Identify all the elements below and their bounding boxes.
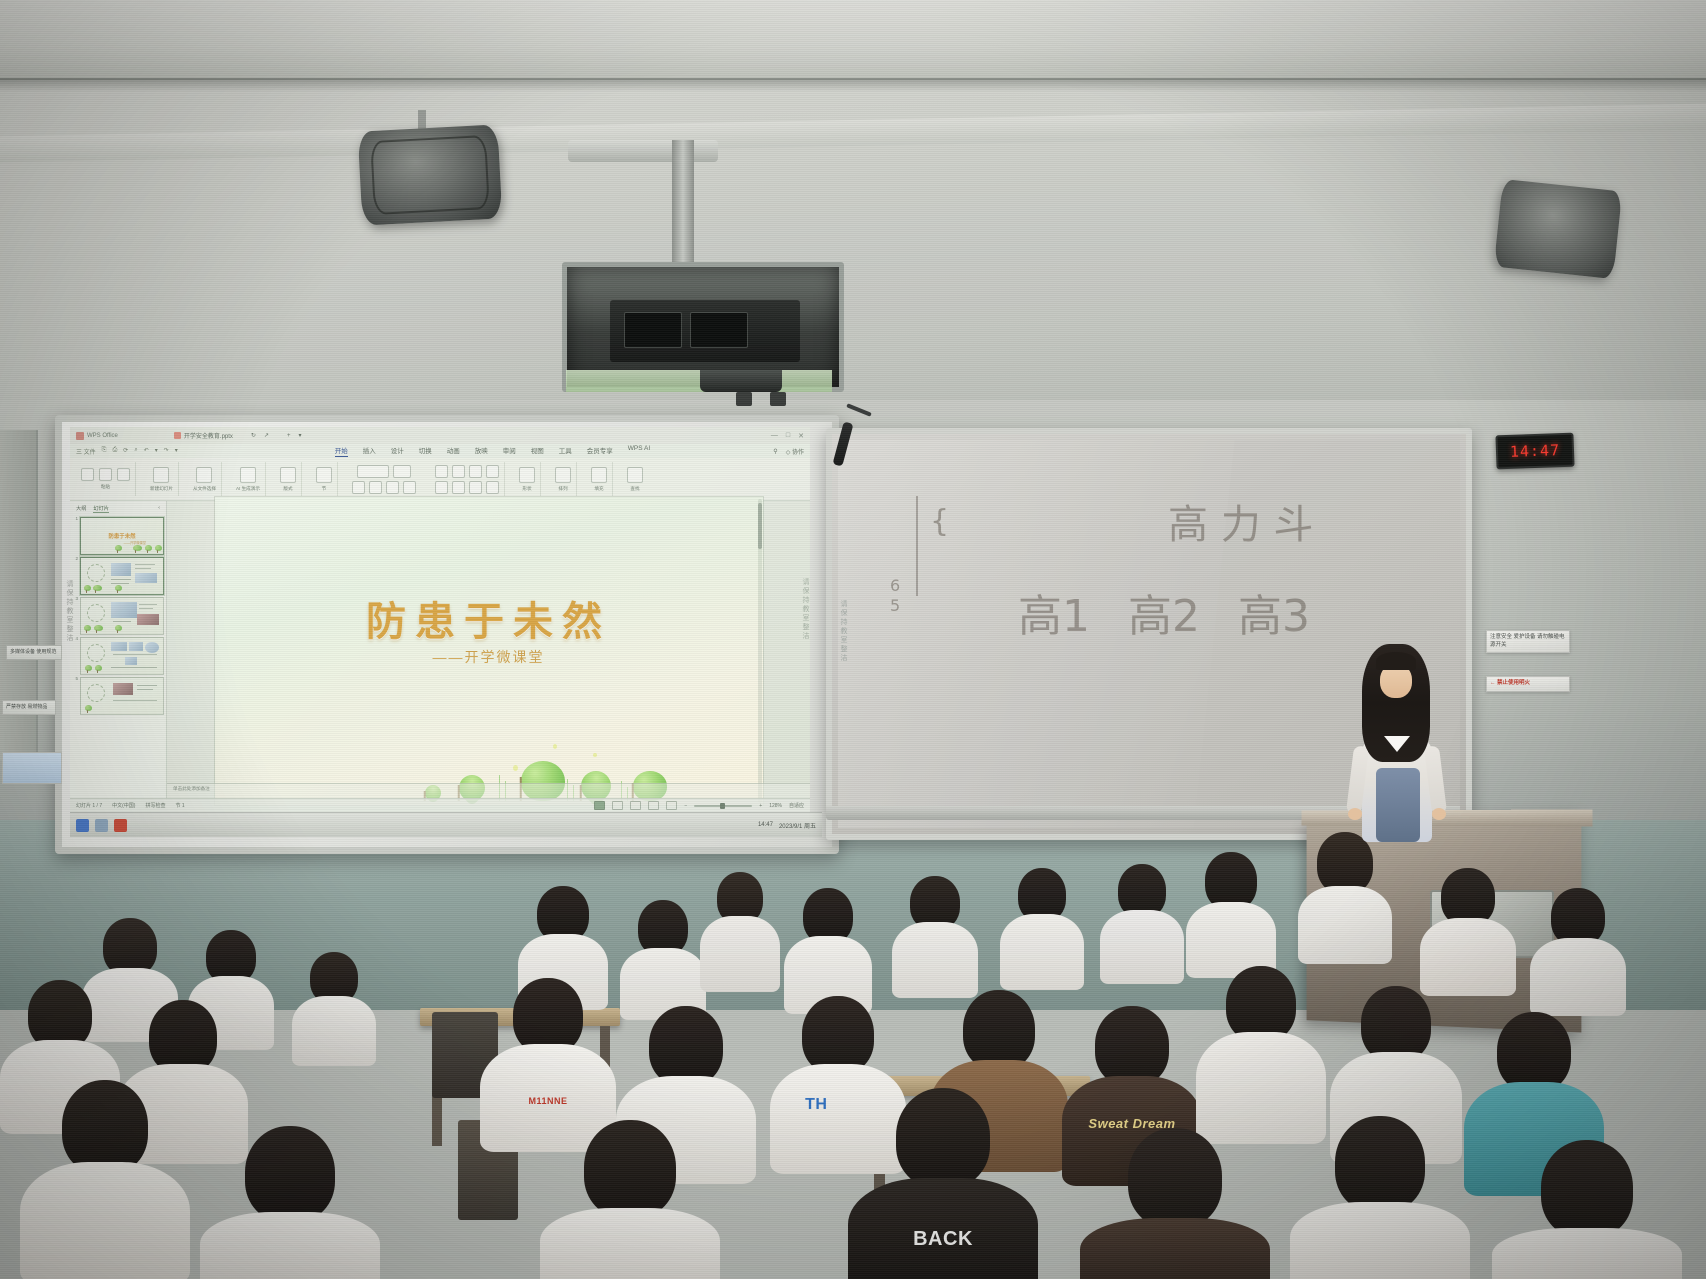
- ribbon-group-section[interactable]: 节: [311, 462, 338, 496]
- thumb-image: [113, 683, 133, 695]
- newslide-icon[interactable]: [153, 467, 169, 483]
- zoom-out-button[interactable]: −: [684, 803, 687, 809]
- thumb-image: [137, 614, 159, 625]
- projector-ceiling-plate: [568, 140, 718, 162]
- student: [1100, 864, 1184, 982]
- ceiling-speaker-right: [1494, 179, 1623, 279]
- thumb-image: [111, 563, 131, 576]
- thumbnail-item[interactable]: 4: [72, 637, 164, 675]
- wall-notice-board: [2, 752, 62, 784]
- tab-start[interactable]: 开始: [335, 445, 348, 457]
- thumb-text-line: [139, 608, 153, 609]
- student: [1492, 1140, 1682, 1279]
- student: [1298, 832, 1392, 960]
- tab-slideshow[interactable]: 放映: [475, 445, 488, 457]
- student-head: [1335, 1116, 1425, 1212]
- status-right-controls: − + 128% 自适应: [594, 801, 804, 810]
- wall-sign-safety: 注意安全 爱护设备 请勿触碰电源开关: [1486, 630, 1570, 653]
- student: [620, 900, 706, 1018]
- wall-sign-no-fire: ← 禁止使用明火: [1486, 676, 1570, 692]
- tab-review[interactable]: 审阅: [503, 445, 516, 457]
- status-section: 节 1: [175, 802, 184, 809]
- minimize-button[interactable]: —: [771, 432, 778, 440]
- align-center-icon[interactable]: [452, 481, 465, 494]
- student: [20, 1080, 190, 1279]
- shirt-text: TH: [805, 1096, 827, 1114]
- student-body: [700, 916, 780, 992]
- ribbon-label-arrange: 排列: [558, 486, 567, 492]
- thumbnail-pane-tabs: 大纲 幻灯片 ‹: [72, 503, 164, 515]
- thumbnail-item[interactable]: 1 防患于未然 ——开学微课堂: [72, 517, 164, 555]
- document-tab[interactable]: 开学安全教育.pptx: [174, 431, 233, 440]
- thumb-text-line: [113, 654, 157, 655]
- thumb-text-line: [113, 700, 157, 701]
- tree-icon: [85, 665, 92, 673]
- para-row-2: [435, 481, 499, 494]
- tree-icon: [115, 625, 122, 633]
- ribbon-group-font[interactable]: [347, 462, 421, 496]
- no-fire-arrow-icon: ←: [1490, 680, 1496, 686]
- slide-vertical-scrollbar[interactable]: [758, 499, 762, 803]
- thumb-image: [125, 657, 137, 665]
- slide-thumbnail-pane[interactable]: 大纲 幻灯片 ‹ 1 防患于未然 ——开学微课堂: [70, 501, 167, 800]
- thumb-image: [135, 573, 157, 583]
- ribbon-label-find: 查找: [630, 486, 639, 492]
- undo-chevron-icon[interactable]: ▾: [155, 447, 158, 456]
- fit-to-window-button[interactable]: 自适应: [789, 802, 804, 809]
- tree-icon: [93, 585, 102, 593]
- ribbon-group-arrange[interactable]: 排列: [550, 462, 577, 496]
- tab-insert[interactable]: 插入: [363, 445, 376, 457]
- font-size-selector[interactable]: [393, 465, 411, 478]
- student-body: [892, 922, 978, 998]
- whiteboard-text-line-2: 高1: [1018, 580, 1090, 644]
- student-head: [149, 1000, 217, 1074]
- teacher-hand-right: [1432, 808, 1446, 820]
- collapse-pane-chevron-icon[interactable]: ‹: [158, 505, 160, 513]
- sun-decor-icon: [87, 564, 105, 582]
- tab-outline[interactable]: 大纲: [76, 505, 86, 513]
- whiteboard-text-line-4: 高3: [1238, 580, 1310, 644]
- view-slideshow-button[interactable]: [666, 801, 677, 810]
- teacher-fringe: [1376, 652, 1416, 670]
- student: [1186, 852, 1276, 976]
- whiteboard-text-line-1: 高 力 斗: [1168, 492, 1313, 550]
- projector-vent: [690, 312, 748, 348]
- student: [1080, 1128, 1270, 1279]
- tree-icon: [155, 545, 162, 553]
- brush-icon[interactable]: [99, 468, 112, 481]
- font-family-selector[interactable]: [357, 465, 389, 478]
- thumb-image: [145, 642, 159, 653]
- view-notes-button[interactable]: [648, 801, 659, 810]
- indent-icon[interactable]: [469, 465, 482, 478]
- thumbnail-title: 防患于未然: [109, 532, 136, 540]
- ribbon-label-shape: 形状: [522, 486, 531, 492]
- ribbon-label-paste: 粘贴: [101, 484, 110, 490]
- student-head: [62, 1080, 148, 1174]
- wps-title-bar: WPS Office 开学安全教育.pptx ↻ ↗ + ▾ — □ ✕: [70, 427, 810, 444]
- ceiling-speaker-left: [358, 124, 503, 225]
- student-body: [200, 1212, 380, 1279]
- slide-editing-area[interactable]: 防患于未然 ——开学微课堂: [167, 501, 810, 800]
- wps-logo-mark: [76, 432, 84, 440]
- undo-icon[interactable]: ↶: [144, 447, 149, 456]
- shirt-text: M11NNE: [528, 1096, 567, 1106]
- student-body: [1492, 1228, 1682, 1279]
- taskbar-time: 14:47: [758, 822, 773, 828]
- student: [1420, 868, 1516, 992]
- student: [292, 952, 376, 1064]
- paste-icons: [81, 468, 130, 481]
- tab-refresh-icon[interactable]: ↻: [251, 432, 256, 439]
- tree-icon: [84, 625, 91, 633]
- whiteboard-margin-number: 6: [890, 576, 900, 595]
- thumb-text-line: [113, 621, 131, 622]
- thumb-text-line: [137, 685, 157, 686]
- thumb-text-line: [135, 564, 155, 565]
- student: [540, 1120, 720, 1279]
- student-head: [1095, 1006, 1169, 1086]
- tree-icon: [85, 705, 92, 713]
- ribbon-group-find[interactable]: 查找: [622, 462, 648, 496]
- thumbnail-item[interactable]: 3: [72, 597, 164, 635]
- student-body: [292, 996, 376, 1066]
- student-body: [20, 1162, 190, 1279]
- student-head: [245, 1126, 335, 1222]
- italic-icon[interactable]: [369, 481, 382, 494]
- tab-wps-ai[interactable]: WPS AI: [628, 445, 650, 457]
- ribbon-group-ai[interactable]: AI 生成演示: [231, 462, 266, 496]
- beam-shadow: [0, 78, 1706, 92]
- pptx-file-icon: [174, 432, 181, 439]
- sun-decor-icon: [87, 684, 105, 702]
- ribbon-group-paragraph[interactable]: [430, 462, 505, 496]
- zoom-in-button[interactable]: +: [759, 803, 762, 809]
- projector-bolt: [770, 392, 786, 406]
- sun-decor-icon: [87, 604, 105, 622]
- vertical-poster-right: 请保持教室整洁: [800, 578, 810, 778]
- projector-vent: [624, 312, 682, 348]
- vertical-poster-left: 请保持教室整洁: [64, 580, 74, 760]
- shirt-text: BACK: [913, 1228, 973, 1251]
- student: [892, 876, 978, 996]
- sun-decor-icon: [87, 644, 105, 662]
- student: [784, 888, 872, 1012]
- student-head: [649, 1006, 723, 1086]
- student-head: [896, 1088, 990, 1188]
- tree-icon: [145, 545, 152, 553]
- tab-list-chevron-icon[interactable]: ▾: [299, 432, 302, 439]
- student-head: [1361, 986, 1431, 1062]
- wps-app-name: WPS Office: [87, 433, 118, 439]
- tab-tools[interactable]: 工具: [559, 445, 572, 457]
- wall-sign-equipment: 多媒体设备 使用规范: [6, 645, 62, 660]
- refresh-icon[interactable]: ⟳: [123, 447, 128, 456]
- wall-sign-flammable: 严禁存放 易燃物品: [2, 700, 56, 715]
- student-body: [1290, 1202, 1470, 1279]
- ribbon-group-paste[interactable]: 粘贴: [76, 462, 136, 496]
- whiteboard-brace: {: [930, 504, 949, 539]
- wps-office-window[interactable]: WPS Office 开学安全教育.pptx ↻ ↗ + ▾ — □ ✕ 三 文…: [70, 427, 810, 812]
- slide-title-text[interactable]: 防患于未然: [215, 589, 763, 647]
- font-row-2: [352, 481, 416, 494]
- thumb-text-line: [137, 689, 153, 690]
- zoom-slider[interactable]: [694, 805, 752, 807]
- new-tab-button[interactable]: +: [287, 433, 291, 439]
- wall-sign-equipment-text: 多媒体设备 使用规范: [10, 649, 56, 655]
- thumbnail-item[interactable]: 5: [72, 677, 164, 715]
- wps-ribbon: 粘贴 新建幻灯片 从文件选择 AI 生成演示 版式 节: [70, 458, 810, 501]
- student-body: [540, 1208, 720, 1279]
- tree-icon: [94, 625, 103, 633]
- list-icon[interactable]: [435, 465, 448, 478]
- teacher-hand-left: [1348, 808, 1362, 820]
- align-right-icon[interactable]: [469, 481, 482, 494]
- tree-icon: [95, 665, 102, 673]
- ribbon-label-ai: AI 生成演示: [236, 486, 260, 492]
- thumbnail-preview[interactable]: [80, 597, 164, 635]
- preview-icon[interactable]: ⌕: [134, 447, 137, 456]
- arrange-icon[interactable]: [555, 467, 571, 483]
- tree-icon: [115, 585, 122, 593]
- wps-status-bar: 幻灯片 1 / 7 中文(中国) 拼写检查 节 1 − + 128% 自适应: [70, 798, 810, 812]
- thumb-text-line: [111, 667, 157, 668]
- student-head: [513, 978, 583, 1054]
- whiteboard-brace-stroke: [916, 496, 918, 596]
- student-body: [1080, 1218, 1270, 1279]
- search-icon[interactable]: [627, 467, 643, 483]
- thumb-text-line: [135, 568, 151, 569]
- close-button[interactable]: ✕: [798, 432, 804, 440]
- zoom-slider-handle[interactable]: [720, 803, 725, 809]
- thumb-image: [111, 642, 127, 651]
- status-spellcheck[interactable]: 拼写检查: [145, 802, 165, 809]
- quick-access-toolbar: 三 文件 ⎘ ⎙ ⟳ ⌕ ↶ ▾ ↷ ▾: [76, 447, 178, 456]
- menu-right-actions: ⚲ ◇ 协作: [773, 447, 804, 456]
- ribbon-group-shape[interactable]: 形状: [514, 462, 541, 496]
- underline-icon[interactable]: [386, 481, 399, 494]
- student-body: [1530, 938, 1626, 1016]
- numbered-list-icon[interactable]: [452, 465, 465, 478]
- view-reading-button[interactable]: [630, 801, 641, 810]
- para-row-1: [435, 465, 499, 478]
- tab-transition[interactable]: 切换: [419, 445, 432, 457]
- taskbar-clock[interactable]: 14:47 2023/9/1 周五: [758, 821, 816, 830]
- wps-logo: WPS Office: [76, 432, 118, 440]
- student: [700, 872, 780, 992]
- student-head: [963, 990, 1035, 1070]
- shape-icon[interactable]: [519, 467, 535, 483]
- collaborate-button[interactable]: ◇ 协作: [786, 447, 804, 456]
- tab-member[interactable]: 会员专享: [587, 445, 613, 457]
- student-head: [1226, 966, 1296, 1042]
- start-button-icon[interactable]: [76, 819, 89, 832]
- outdent-icon[interactable]: [486, 465, 499, 478]
- ribbon-group-layout[interactable]: 版式: [275, 462, 302, 496]
- tree-icon: [133, 545, 142, 553]
- taskbar-date: 2023/9/1 周五: [779, 821, 816, 830]
- save-icon[interactable]: ⎘: [102, 447, 107, 456]
- bold-icon[interactable]: [352, 481, 365, 494]
- search-taskbar-icon[interactable]: [95, 819, 108, 832]
- thumbnail-number: 1: [72, 517, 78, 522]
- os-taskbar[interactable]: 14:47 2023/9/1 周五: [70, 812, 822, 837]
- tab-design[interactable]: 设计: [391, 445, 404, 457]
- whiteboard-margin-number: 5: [890, 596, 900, 615]
- redo-icon[interactable]: ↷: [164, 447, 169, 456]
- clock-time-display: 14:47: [1510, 441, 1561, 461]
- thumb-text-line: [139, 604, 157, 605]
- student-body: [1100, 910, 1184, 984]
- zoom-level-label[interactable]: 128%: [769, 803, 782, 809]
- ribbon-group-new-slide[interactable]: 新建幻灯片: [145, 462, 179, 496]
- ribbon-label-from-file: 从文件选择: [193, 486, 216, 492]
- view-sorter-button[interactable]: [612, 801, 623, 810]
- tree-icon: [84, 585, 91, 593]
- view-normal-button[interactable]: [594, 801, 605, 810]
- student: BACK: [848, 1088, 1038, 1279]
- thumbnail-preview[interactable]: [80, 677, 164, 715]
- fromfile-icon[interactable]: [196, 467, 212, 483]
- print-icon[interactable]: ⎙: [112, 447, 117, 456]
- student: [200, 1126, 380, 1279]
- ribbon-group-from-file[interactable]: 从文件选择: [188, 462, 222, 496]
- wps-workspace: 大纲 幻灯片 ‹ 1 防患于未然 ——开学微课堂: [70, 501, 810, 800]
- projector-mount-pole: [672, 140, 694, 266]
- status-slide-indicator: 幻灯片 1 / 7: [76, 802, 102, 809]
- clipboard-icon[interactable]: [81, 468, 94, 481]
- classroom-scene: WPS Office 开学安全教育.pptx ↻ ↗ + ▾ — □ ✕ 三 文…: [0, 0, 1706, 1279]
- student-body: [1420, 918, 1516, 996]
- thumb-text-line: [111, 579, 131, 580]
- tab-view[interactable]: 视图: [531, 445, 544, 457]
- strike-icon[interactable]: [403, 481, 416, 494]
- student-head: [1128, 1128, 1222, 1228]
- led-wall-clock: 14:47: [1495, 433, 1574, 470]
- ai-icon[interactable]: [240, 467, 256, 483]
- current-slide[interactable]: 防患于未然 ——开学微课堂: [215, 497, 763, 805]
- teacher-denim-vest: [1376, 768, 1420, 842]
- wall-sign-flammable-text: 严禁存放 易燃物品: [6, 704, 47, 710]
- student-head: [802, 996, 874, 1074]
- student-body: [1298, 886, 1392, 964]
- vertical-poster-board: 请保持教室整洁: [838, 600, 848, 790]
- tree-icon: [115, 545, 122, 553]
- tab-slides[interactable]: 幻灯片: [93, 505, 109, 513]
- projector-lens: [700, 370, 782, 392]
- student-head: [1497, 1012, 1571, 1092]
- wps-taskbar-icon[interactable]: [114, 819, 127, 832]
- thumbnail-preview[interactable]: [80, 637, 164, 675]
- student-body: [1000, 914, 1084, 990]
- thumb-image: [129, 642, 143, 651]
- tab-animation[interactable]: 动画: [447, 445, 460, 457]
- ribbon-label-layout: 版式: [283, 486, 292, 492]
- cut-icon[interactable]: [117, 468, 130, 481]
- teacher: [1332, 650, 1462, 840]
- whiteboard-text-line-3: 高2: [1128, 580, 1200, 644]
- student: [1530, 888, 1626, 1012]
- ribbon-label-fill: 填充: [594, 486, 603, 492]
- wall-sign-safety-text: 注意安全 爱护设备 请勿触碰电源开关: [1490, 634, 1565, 648]
- ribbon-label-new-slide: 新建幻灯片: [150, 486, 173, 492]
- align-left-icon[interactable]: [435, 481, 448, 494]
- font-row-1: [357, 465, 411, 478]
- projector-body: [610, 300, 800, 362]
- redo-chevron-icon[interactable]: ▾: [175, 447, 178, 456]
- tab-popout-icon[interactable]: ↗: [264, 432, 269, 439]
- section-icon[interactable]: [316, 467, 332, 483]
- speaker-rim: [370, 135, 490, 215]
- projector-light-spill: [566, 370, 832, 392]
- maximize-button[interactable]: □: [786, 432, 790, 440]
- wps-menu-bar: 三 文件 ⎘ ⎙ ⟳ ⌕ ↶ ▾ ↷ ▾ 开始 插入 设计 切换 动画 放映 审…: [70, 444, 810, 458]
- status-language[interactable]: 中文(中国): [112, 802, 135, 809]
- fill-icon[interactable]: [591, 467, 607, 483]
- thumbnail-preview[interactable]: 防患于未然 ——开学微课堂: [80, 517, 164, 555]
- slide-subtitle-text[interactable]: ——开学微课堂: [215, 647, 763, 667]
- thumbnail-item[interactable]: 2: [72, 557, 164, 595]
- window-controls: — □ ✕: [771, 432, 804, 440]
- search-icon[interactable]: ⚲: [773, 448, 777, 455]
- student: [1290, 1116, 1470, 1279]
- projector-bolt: [736, 392, 752, 406]
- thumb-image: [111, 602, 137, 618]
- file-menu-button[interactable]: 三 文件: [76, 447, 96, 456]
- ribbon-label-section: 节: [322, 486, 327, 492]
- student: [1000, 868, 1084, 988]
- layout-icon[interactable]: [280, 467, 296, 483]
- student-head: [584, 1120, 676, 1218]
- ceiling-beam: [0, 0, 1706, 80]
- thumbnail-preview[interactable]: [80, 557, 164, 595]
- ribbon-group-fill[interactable]: 填充: [586, 462, 613, 496]
- student-head: [1541, 1140, 1633, 1238]
- line-spacing-icon[interactable]: [486, 481, 499, 494]
- document-file-name: 开学安全教育.pptx: [184, 431, 233, 440]
- wall-sign-no-fire-text: 禁止使用明火: [1497, 680, 1530, 686]
- ribbon-tabs: 开始 插入 设计 切换 动画 放映 审阅 视图 工具 会员专享 WPS AI: [335, 445, 650, 457]
- thumbnail-number: 2: [72, 557, 78, 562]
